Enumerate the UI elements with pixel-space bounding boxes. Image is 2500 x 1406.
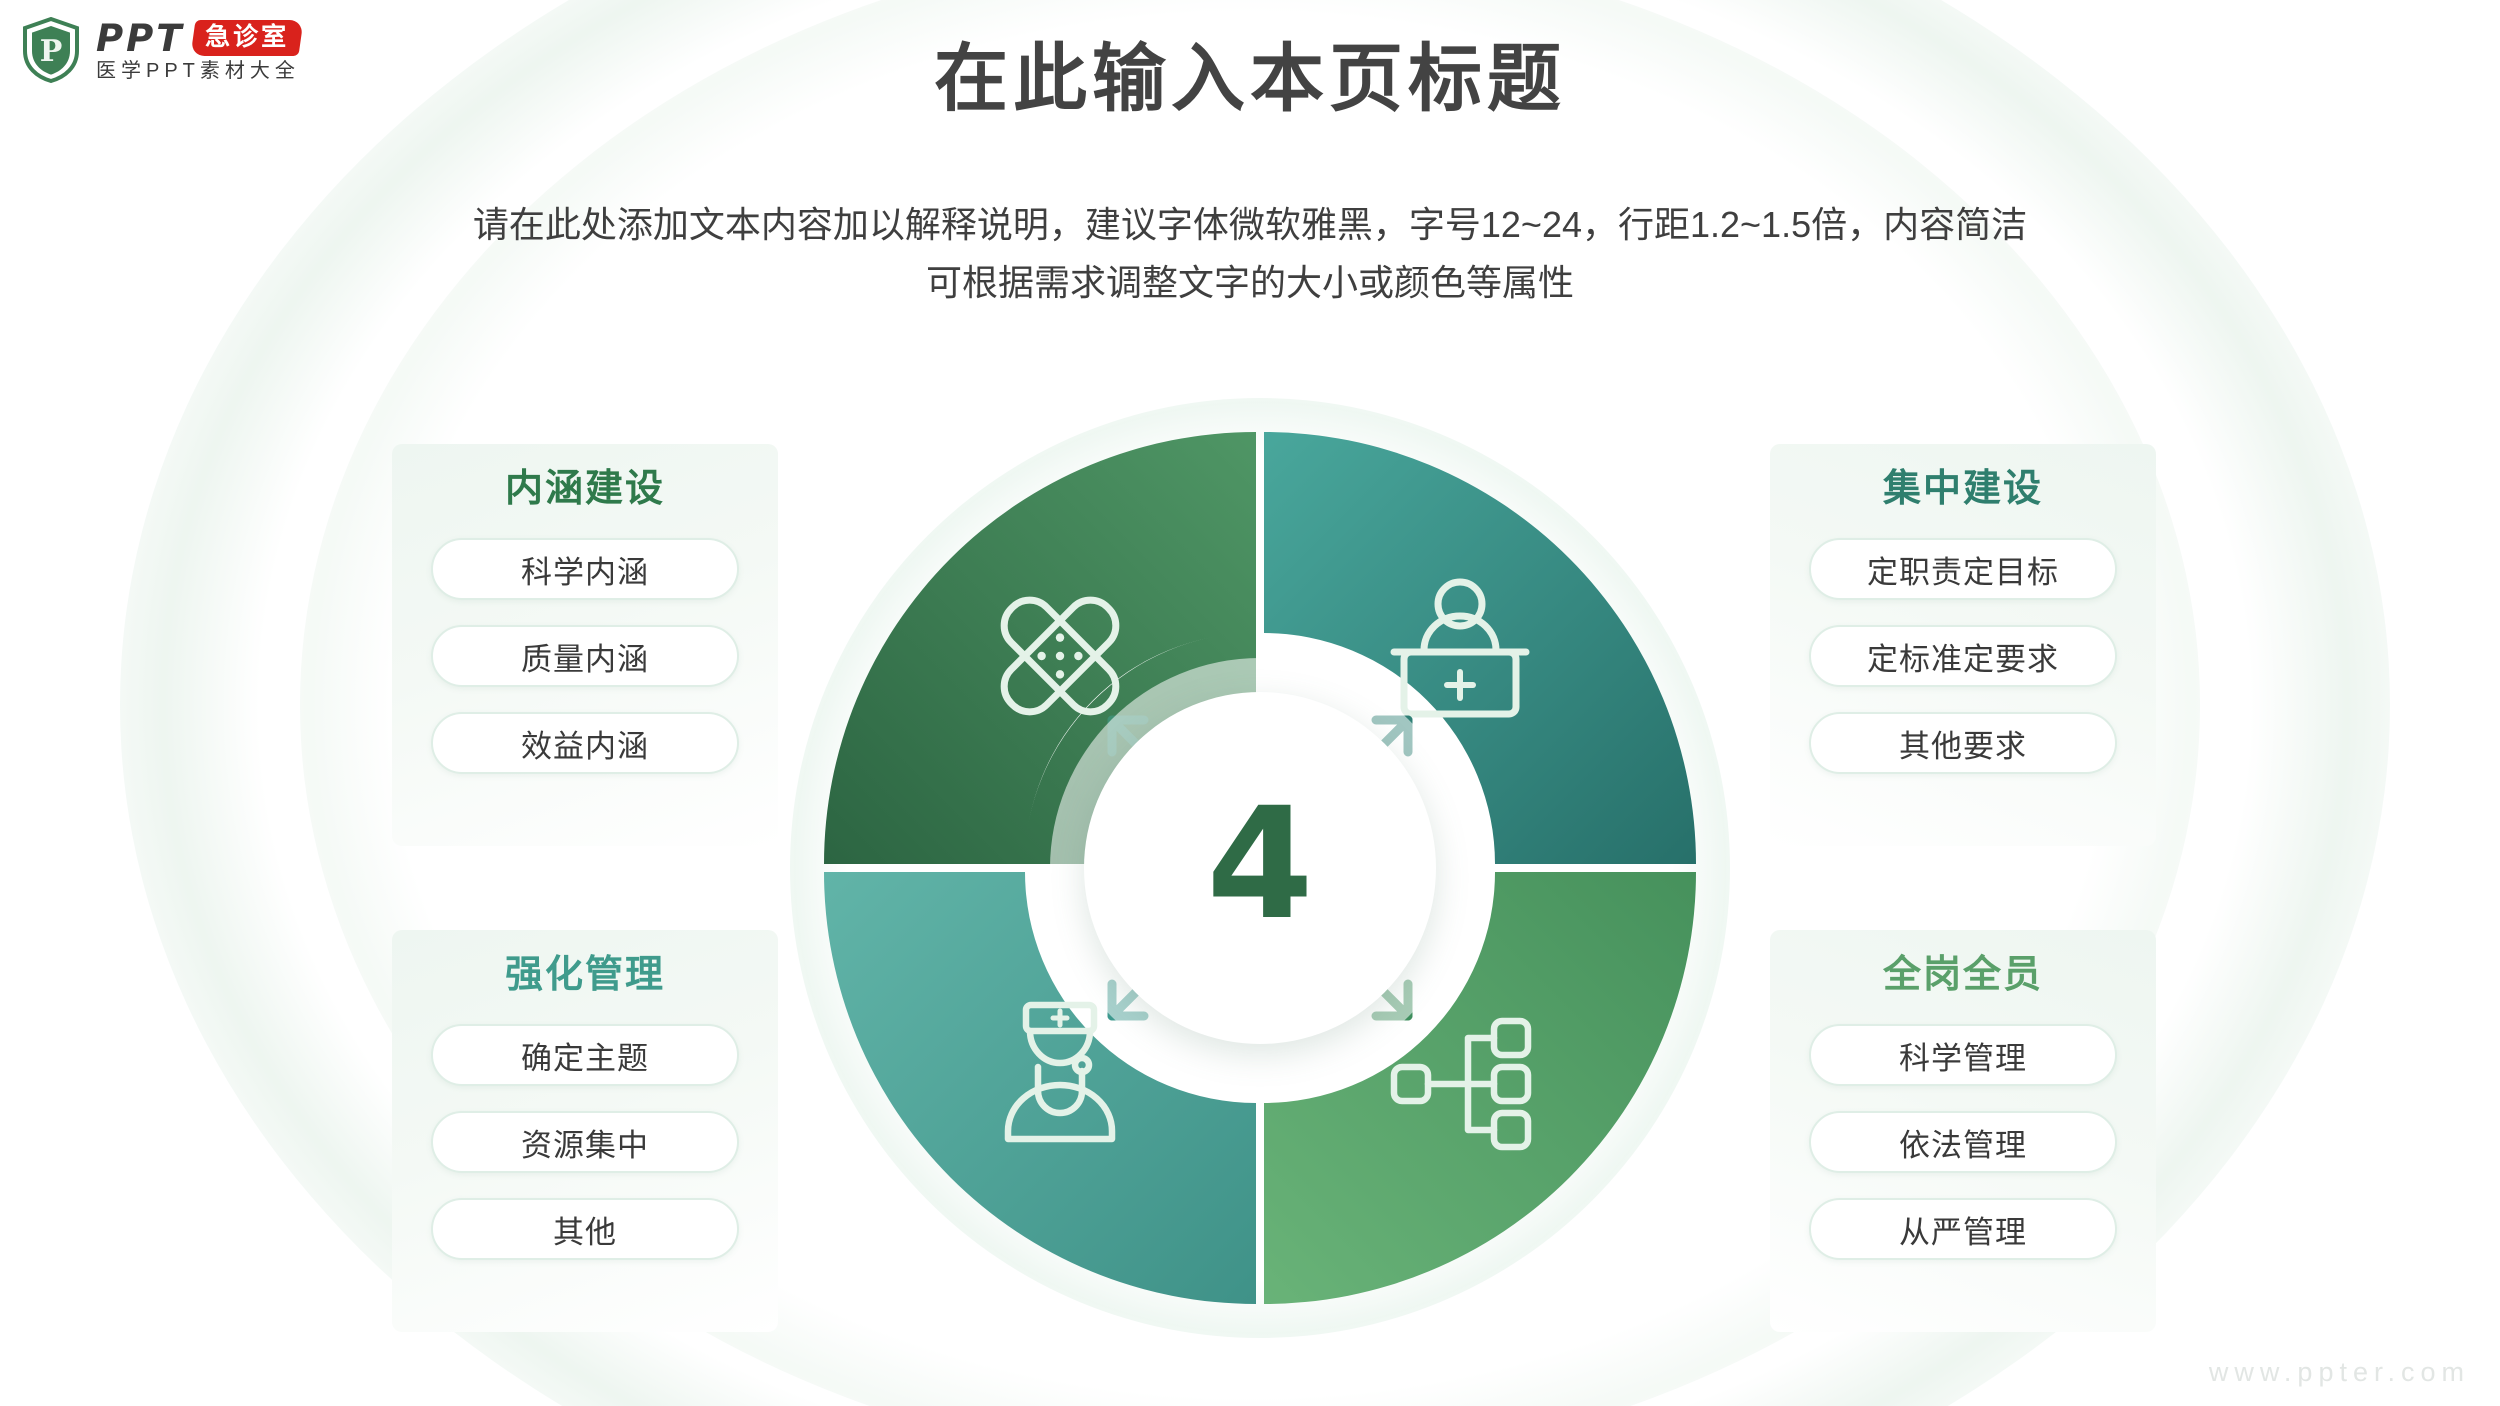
- page-subtitle-line-1: 请在此处添加文本内容加以解释说明，建议字体微软雅黑，字号12~24，行距1.2~…: [0, 196, 2500, 254]
- panel-bottom-left[interactable]: 强化管理 确定主题 资源集中 其他: [392, 930, 778, 1332]
- panel-bottom-right[interactable]: 全岗全员 科学管理 依法管理 从严管理: [1770, 930, 2156, 1332]
- panel-item-bottom-right-1[interactable]: 科学管理: [1809, 1024, 2117, 1086]
- page-subtitle-line-2: 可根据需求调整文字的大小或颜色等属性: [0, 254, 2500, 312]
- panel-top-left[interactable]: 内涵建设 科学内涵 质量内涵 效益内涵: [392, 444, 778, 846]
- panel-item-bottom-left-3[interactable]: 其他: [431, 1198, 739, 1260]
- panel-item-top-left-2[interactable]: 质量内涵: [431, 625, 739, 687]
- panel-top-right[interactable]: 集中建设 定职责定目标 定标准定要求 其他要求: [1770, 444, 2156, 846]
- panel-item-top-left-1[interactable]: 科学内涵: [431, 538, 739, 600]
- panel-item-top-right-2[interactable]: 定标准定要求: [1809, 625, 2117, 687]
- center-number: 4: [1206, 788, 1313, 942]
- panel-heading-top-right: 集中建设: [1883, 470, 2043, 508]
- center-disc[interactable]: 4: [1084, 692, 1436, 1044]
- panel-item-bottom-right-2[interactable]: 依法管理: [1809, 1111, 2117, 1173]
- donut-diagram: 4: [820, 428, 1700, 1308]
- panel-item-top-right-1[interactable]: 定职责定目标: [1809, 538, 2117, 600]
- panel-item-bottom-right-3[interactable]: 从严管理: [1809, 1198, 2117, 1260]
- panel-heading-bottom-left: 强化管理: [505, 956, 665, 994]
- panel-item-bottom-left-2[interactable]: 资源集中: [431, 1111, 739, 1173]
- slide-canvas: P PPT 急诊室 医学PPT素材大全 在此输入本页标题 请在此处添加文本内容加…: [0, 0, 2500, 1406]
- panel-heading-bottom-right: 全岗全员: [1883, 956, 2043, 994]
- page-title: 在此输入本页标题: [0, 38, 2500, 121]
- panel-item-bottom-left-1[interactable]: 确定主题: [431, 1024, 739, 1086]
- page-subtitle: 请在此处添加文本内容加以解释说明，建议字体微软雅黑，字号12~24，行距1.2~…: [0, 196, 2500, 313]
- panel-heading-top-left: 内涵建设: [505, 470, 665, 508]
- panel-item-top-right-3[interactable]: 其他要求: [1809, 712, 2117, 774]
- watermark: www.ppter.com: [2209, 1357, 2470, 1388]
- panel-item-top-left-3[interactable]: 效益内涵: [431, 712, 739, 774]
